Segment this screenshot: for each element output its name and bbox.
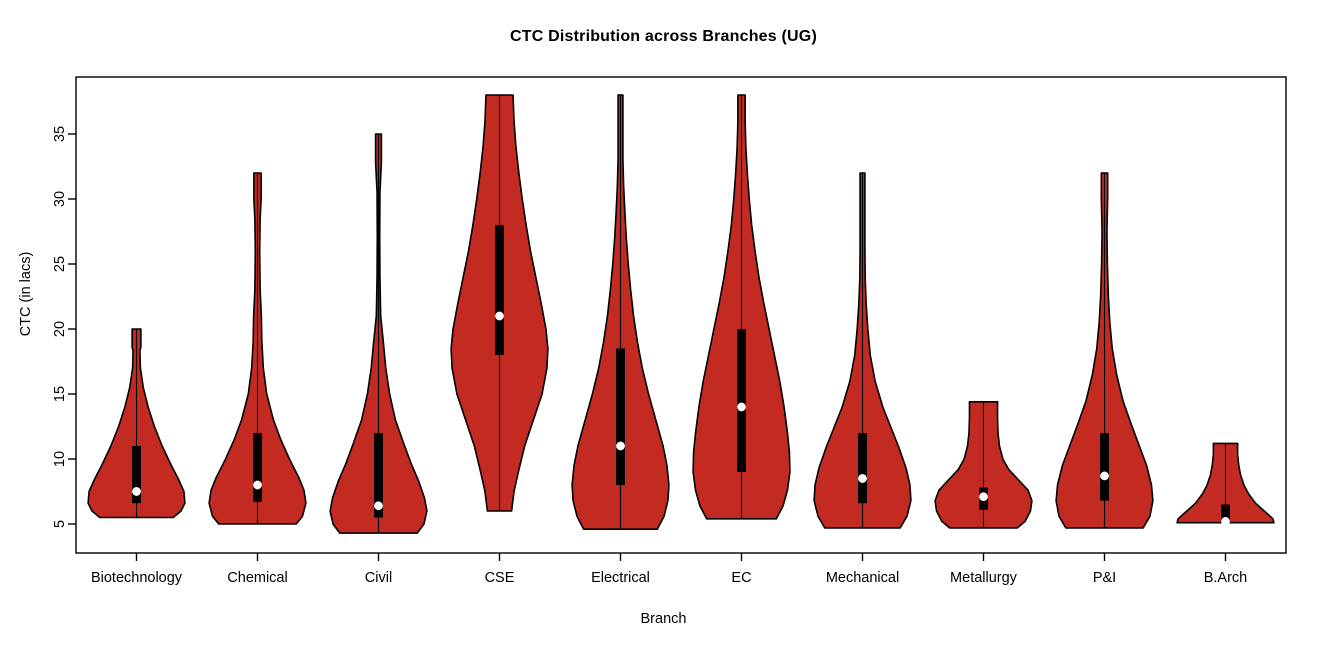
- violin-b-arch: [1177, 443, 1274, 525]
- x-axis-tick-label: B.Arch: [1204, 570, 1248, 586]
- y-axis-tick-label: 25: [52, 256, 68, 272]
- x-axis-tick-label: Mechanical: [826, 570, 899, 586]
- iqr-box: [495, 225, 504, 355]
- y-axis-tick-label: 5: [52, 520, 68, 528]
- y-axis-tick-label: 30: [52, 191, 68, 207]
- median-marker: [374, 502, 382, 510]
- x-axis-tick-label: Biotechnology: [91, 570, 183, 586]
- x-axis-tick-label: Chemical: [227, 570, 287, 586]
- violin-metallurgy: [935, 402, 1032, 528]
- x-axis-tick-label: Metallurgy: [950, 570, 1018, 586]
- iqr-box: [1100, 433, 1109, 501]
- median-marker: [1221, 517, 1229, 525]
- y-axis-tick-label: 15: [52, 386, 68, 402]
- x-axis-tick-label: Electrical: [591, 570, 650, 586]
- median-marker: [858, 474, 866, 482]
- violin-ec: [693, 95, 790, 519]
- violin-electrical: [572, 95, 669, 529]
- x-axis-tick-label: Civil: [365, 570, 392, 586]
- plot-canvas: 5101520253035BiotechnologyChemicalCivilC…: [0, 0, 1327, 653]
- median-marker: [616, 442, 624, 450]
- violin-chemical: [209, 173, 306, 524]
- iqr-box: [253, 433, 262, 502]
- violin-biotechnology: [88, 329, 185, 518]
- x-axis-tick-label: EC: [731, 570, 751, 586]
- x-axis-tick-label: CSE: [485, 570, 515, 586]
- median-marker: [495, 312, 503, 320]
- median-marker: [737, 403, 745, 411]
- iqr-box: [737, 329, 746, 472]
- violin-cse: [451, 95, 548, 511]
- y-axis-tick-label: 10: [52, 451, 68, 467]
- violins-layer: [88, 95, 1274, 533]
- violin-mechanical: [814, 173, 911, 528]
- violin-civil: [330, 134, 427, 533]
- median-marker: [132, 487, 140, 495]
- median-marker: [253, 481, 261, 489]
- iqr-box: [858, 433, 867, 503]
- violin-p-i: [1056, 173, 1153, 528]
- x-axis-tick-label: P&I: [1093, 570, 1116, 586]
- median-marker: [1100, 472, 1108, 480]
- y-axis-tick-label: 35: [52, 126, 68, 142]
- y-axis-tick-label: 20: [52, 321, 68, 337]
- iqr-box: [616, 349, 625, 486]
- median-marker: [979, 493, 987, 501]
- violin-plot-figure: CTC Distribution across Branches (UG) CT…: [0, 0, 1327, 653]
